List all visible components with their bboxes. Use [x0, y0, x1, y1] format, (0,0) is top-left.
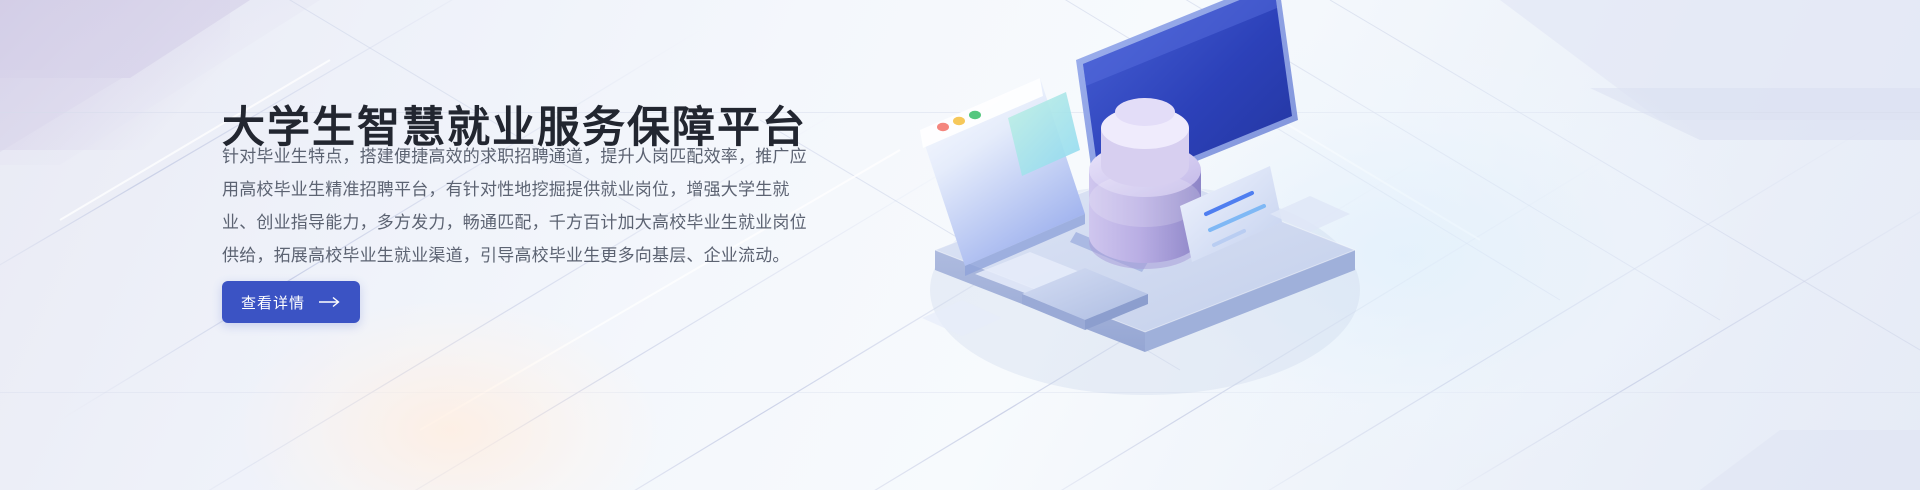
hero-banner: 大学生智慧就业服务保障平台 针对毕业生特点，搭建便捷高效的求职招聘通道，提升人岗…: [0, 0, 1920, 490]
view-details-button[interactable]: 查看详情: [222, 281, 360, 323]
description-line: 针对毕业生特点，搭建便捷高效的求职招聘通道，提升人岗匹配效率，推广应: [222, 140, 844, 173]
corner-gradient-accent: [0, 0, 230, 150]
window-dot-yellow: [953, 117, 965, 125]
description-line: 用高校毕业生精准招聘平台，有针对性地挖掘提供就业岗位，增强大学生就: [222, 173, 844, 206]
isometric-scene: [880, 0, 1440, 490]
hero-description: 针对毕业生特点，搭建便捷高效的求职招聘通道，提升人岗匹配效率，推广应 用高校毕业…: [222, 140, 844, 272]
arrow-right-icon: [319, 296, 341, 308]
description-line: 供给，拓展高校毕业生就业渠道，引导高校毕业生更多向基层、企业流动。: [222, 239, 844, 272]
window-dot-red: [937, 123, 949, 131]
server-cylinder: [1089, 98, 1201, 269]
description-line: 业、创业指导能力，多方发力，畅通匹配，千方百计加大高校毕业生就业岗位: [222, 206, 844, 239]
hero-illustration: 大学生智慧就业服务保障平台: [880, 0, 1440, 490]
view-details-label: 查看详情: [241, 292, 305, 313]
window-dot-green: [969, 111, 981, 119]
hero-content: 大学生智慧就业服务保障平台 针对毕业生特点，搭建便捷高效的求职招聘通道，提升人岗…: [222, 0, 882, 490]
